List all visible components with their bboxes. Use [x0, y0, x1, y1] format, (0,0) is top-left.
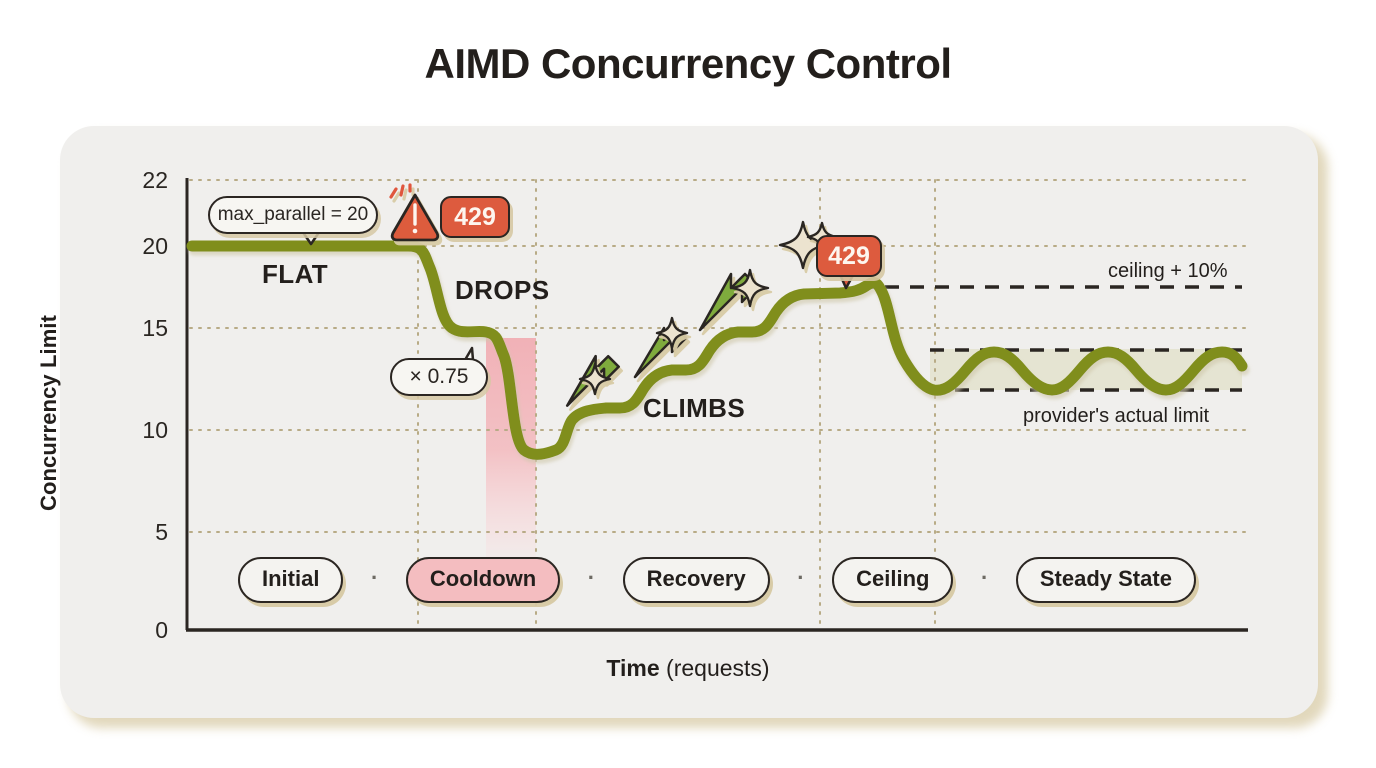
y-tick: 15 — [108, 315, 168, 342]
multiplier-callout: × 0.75 — [390, 358, 488, 396]
y-tick: 20 — [108, 233, 168, 260]
y-tick: 22 — [108, 167, 168, 194]
y-axis-ticks: 22 20 15 10 5 0 — [108, 0, 168, 768]
label-provider-actual-limit: provider's actual limit — [1023, 405, 1209, 428]
phase-pill-recovery[interactable]: Recovery — [623, 557, 770, 603]
max-parallel-callout: max_parallel = 20 — [208, 196, 378, 234]
phase-pill-initial[interactable]: Initial — [238, 557, 343, 603]
phase-pill-row: Initial · Cooldown · Recovery · Ceiling … — [186, 558, 1248, 602]
phase-separator: · — [981, 567, 988, 593]
phase-separator: · — [797, 567, 804, 593]
phase-pill-cooldown[interactable]: Cooldown — [406, 557, 560, 603]
y-axis-title: Concurrency Limit — [36, 263, 62, 563]
label-flat: FLAT — [262, 259, 328, 290]
x-axis-title-strong: Time — [606, 655, 659, 681]
label-drops: DROPS — [455, 275, 549, 306]
phase-separator: · — [588, 567, 595, 593]
y-tick: 10 — [108, 417, 168, 444]
x-axis-title: Time (requests) — [0, 655, 1376, 682]
page-title: AIMD Concurrency Control — [0, 40, 1376, 88]
y-tick: 0 — [108, 617, 168, 644]
phase-pill-ceiling[interactable]: Ceiling — [832, 557, 953, 603]
screenshot-root: AIMD Concurrency Control — [0, 0, 1376, 768]
y-tick: 5 — [108, 519, 168, 546]
label-climbs: CLIMBS — [643, 393, 745, 424]
phase-separator: · — [371, 567, 378, 593]
x-axis-title-rest: (requests) — [660, 655, 770, 681]
label-ceiling-plus-10: ceiling + 10% — [1108, 260, 1228, 283]
phase-pill-steady-state[interactable]: Steady State — [1016, 557, 1196, 603]
badge-429-ceiling: 429 — [816, 235, 882, 277]
badge-429-drop: 429 — [440, 196, 510, 238]
